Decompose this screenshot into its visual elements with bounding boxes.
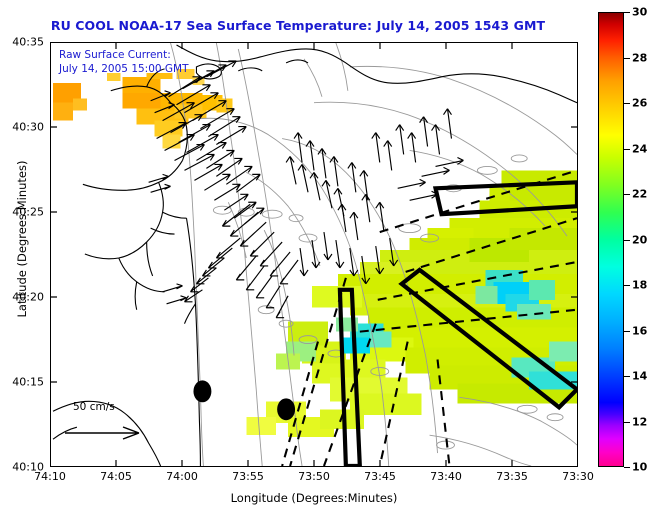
cb-tick-8: 14 <box>632 370 647 383</box>
x-axis-title: Longitude (Degrees:Minutes) <box>50 491 578 505</box>
sst-map-figure: RU COOL NOAA-17 Sea Surface Temperature:… <box>0 0 651 518</box>
cb-tick-3: 24 <box>632 142 647 155</box>
map-plot-area: Raw Surface Current: July 14, 2005 15:00… <box>50 42 578 467</box>
current-annotation: Raw Surface Current: July 14, 2005 15:00… <box>59 48 189 76</box>
figure-title: RU COOL NOAA-17 Sea Surface Temperature:… <box>0 18 596 33</box>
annotation-line-1: Raw Surface Current: <box>59 48 189 62</box>
cb-tick-0: 30 <box>632 6 647 19</box>
cb-tick-6: 18 <box>632 279 647 292</box>
cb-tick-7: 16 <box>632 324 647 337</box>
y-tick-5: 40:10 <box>2 461 44 474</box>
cb-tick-5: 20 <box>632 233 647 246</box>
vector-scale-label: 50 cm/s <box>73 401 115 413</box>
y-tick-0: 40:35 <box>2 36 44 49</box>
x-tick-5: 73:45 <box>364 470 396 483</box>
x-tick-7: 73:35 <box>496 470 528 483</box>
y-tick-4: 40:15 <box>2 376 44 389</box>
station-marker-east <box>277 398 295 420</box>
x-tick-6: 73:40 <box>430 470 462 483</box>
x-tick-1: 74:05 <box>100 470 132 483</box>
cb-tick-1: 28 <box>632 51 647 64</box>
station-markers <box>193 380 295 420</box>
cb-tick-10: 10 <box>632 461 647 474</box>
x-tick-3: 73:55 <box>232 470 264 483</box>
annotation-line-2: July 14, 2005 15:00 GMT <box>59 62 189 76</box>
y-axis-title: Latitude (Degrees:Minutes) <box>15 129 29 349</box>
cb-tick-2: 26 <box>632 97 647 110</box>
cb-tick-4: 22 <box>632 188 647 201</box>
x-tick-8: 73:30 <box>562 470 594 483</box>
x-tick-2: 74:00 <box>166 470 198 483</box>
temperature-colorbar <box>598 12 624 467</box>
station-marker-west <box>193 380 211 402</box>
cb-tick-9: 12 <box>632 415 647 428</box>
x-tick-4: 73:50 <box>298 470 330 483</box>
